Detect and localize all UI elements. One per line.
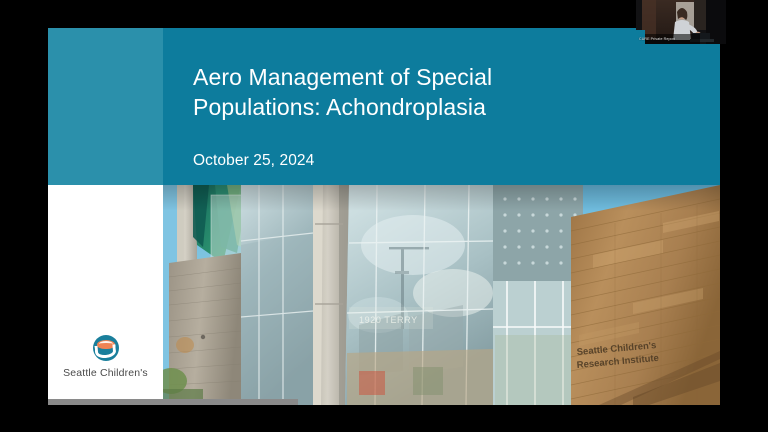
webcam-caption: CURE Private Report [636, 37, 726, 42]
title-block: Aero Management of Special Populations: … [193, 62, 693, 122]
slide-header-banner: Aero Management of Special Populations: … [48, 28, 720, 185]
header-accent-band [48, 28, 163, 185]
seattle-childrens-logo-icon [93, 335, 119, 361]
screen: Aero Management of Special Populations: … [0, 0, 768, 432]
slide-date: October 25, 2024 [193, 151, 314, 171]
presentation-slide: Aero Management of Special Populations: … [48, 28, 720, 405]
webcam-overlay[interactable]: CURE Private Report [636, 0, 726, 44]
slide-body: 1920 TERRY [48, 185, 720, 405]
address-sign: 1920 TERRY [349, 307, 433, 329]
slide-title: Aero Management of Special Populations: … [193, 62, 693, 122]
building-photo: 1920 TERRY [163, 185, 720, 405]
logo-wordmark: Seattle Children's [48, 367, 163, 379]
seattle-childrens-logo: Seattle Children's [48, 335, 163, 379]
slide-bottom-strip [48, 399, 298, 405]
svg-text:1920 TERRY: 1920 TERRY [359, 315, 418, 325]
logo-panel: Seattle Children's [48, 185, 163, 405]
